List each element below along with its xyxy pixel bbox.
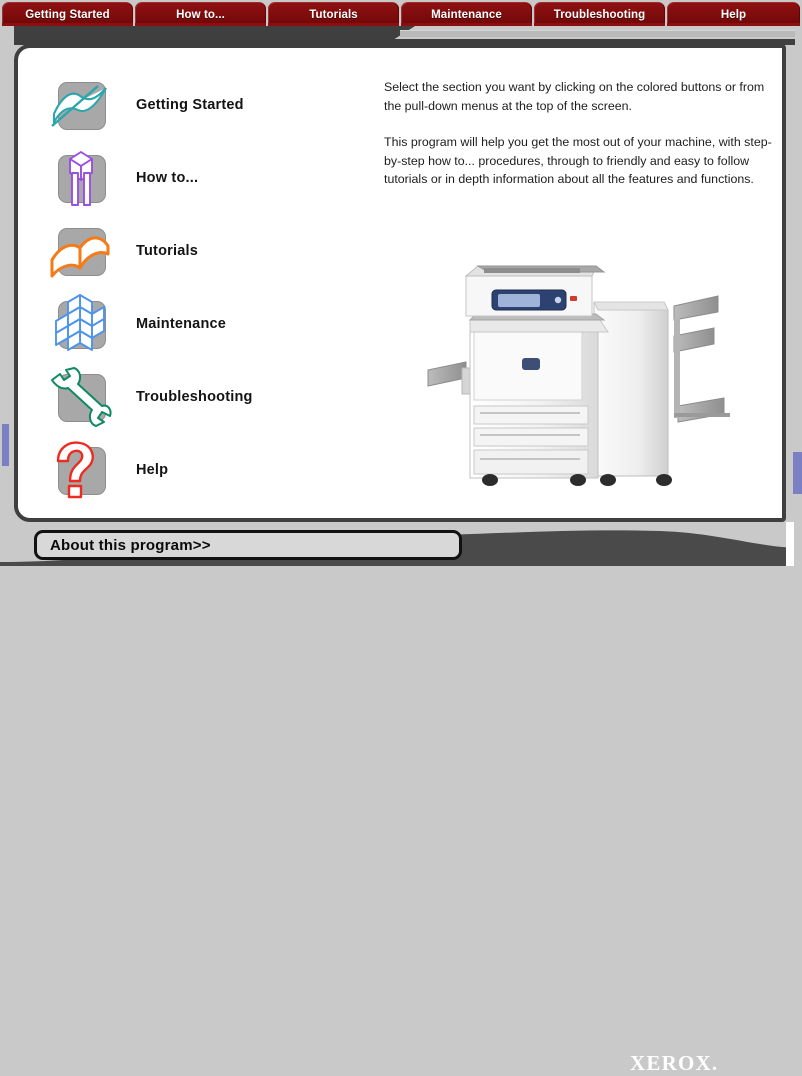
main-content-panel: Getting Started Ho xyxy=(14,44,786,522)
about-this-program-button[interactable]: About this program>> xyxy=(34,530,462,560)
menu-item-label: Troubleshooting xyxy=(136,389,253,405)
intro-copy: Select the section you want by clicking … xyxy=(384,78,776,207)
question-mark-icon xyxy=(48,439,112,501)
printer-illustration xyxy=(418,258,748,508)
menu-item-how-to[interactable]: How to... xyxy=(38,141,368,214)
menu-item-maintenance[interactable]: Maintenance xyxy=(38,287,368,360)
section-menu-list: Getting Started Ho xyxy=(38,68,368,506)
cross-blocks-icon xyxy=(48,293,112,355)
left-edge-accent xyxy=(2,424,9,466)
top-tab-bar: Getting Started How to... Tutorials Main… xyxy=(0,0,802,25)
xerox-wordmark-dot: . xyxy=(712,1051,718,1075)
menu-item-tutorials[interactable]: Tutorials xyxy=(38,214,368,287)
xerox-wordmark-text: XEROX xyxy=(630,1051,712,1075)
tab-label: Getting Started xyxy=(25,9,110,21)
menu-item-getting-started[interactable]: Getting Started xyxy=(38,68,368,141)
header-dark-band xyxy=(14,26,386,45)
application-window: Getting Started How to... Tutorials Main… xyxy=(0,0,802,566)
tab-help[interactable]: Help xyxy=(667,2,800,26)
tab-label: Maintenance xyxy=(431,9,502,21)
wrench-icon xyxy=(48,366,112,428)
footer-bar: About this program>> XEROX. xyxy=(0,522,802,566)
tab-troubleshooting[interactable]: Troubleshooting xyxy=(534,2,665,26)
tab-label: Help xyxy=(721,9,746,21)
tab-getting-started[interactable]: Getting Started xyxy=(2,2,133,26)
menu-item-label: Help xyxy=(136,462,168,478)
intro-paragraph-2: This program will help you get the most … xyxy=(384,133,776,189)
tab-label: Troubleshooting xyxy=(554,9,646,21)
menu-item-label: Maintenance xyxy=(136,316,226,332)
tab-label: How to... xyxy=(176,9,225,21)
menu-item-label: Tutorials xyxy=(136,243,198,259)
tab-tutorials[interactable]: Tutorials xyxy=(268,2,399,26)
right-edge-accent xyxy=(793,452,802,494)
xerox-logo-wordmark: XEROX. xyxy=(630,1051,718,1076)
about-button-label: About this program>> xyxy=(50,537,211,554)
cube-column-icon xyxy=(48,147,112,209)
tab-maintenance[interactable]: Maintenance xyxy=(401,2,532,26)
tab-how-to[interactable]: How to... xyxy=(135,2,266,26)
menu-item-label: Getting Started xyxy=(136,97,244,113)
intro-paragraph-1: Select the section you want by clicking … xyxy=(384,78,776,115)
flag-swoosh-icon xyxy=(48,74,112,136)
menu-item-troubleshooting[interactable]: Troubleshooting xyxy=(38,360,368,433)
tab-label: Tutorials xyxy=(309,9,358,21)
header-highlight-strip xyxy=(400,30,795,37)
menu-item-label: How to... xyxy=(136,170,198,186)
menu-item-help[interactable]: Help xyxy=(38,433,368,506)
open-book-icon xyxy=(48,220,112,282)
